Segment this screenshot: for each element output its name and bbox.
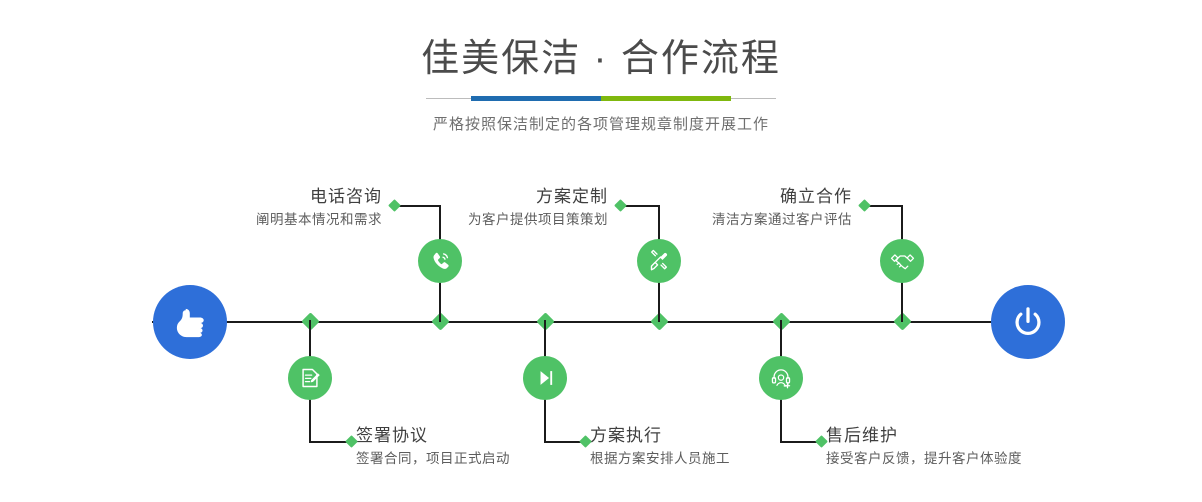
ruler-pencil-icon <box>646 248 672 274</box>
hand-pointing-icon <box>169 301 211 343</box>
step-desc-5: 清洁方案通过客户评估 <box>620 210 852 230</box>
handshake-icon <box>889 248 916 275</box>
divider-segment-green <box>601 96 731 101</box>
step-title-1: 电话咨询 <box>130 186 382 208</box>
process-flow-infographic: 佳美保洁 · 合作流程 严格按照保洁制定的各项管理规章制度开展工作 <box>0 0 1202 502</box>
document-pencil-icon <box>297 365 323 391</box>
step-title-6: 售后维护 <box>826 425 1156 447</box>
timeline-start-node[interactable] <box>153 285 227 359</box>
step-label-5: 确立合作 清洁方案通过客户评估 <box>620 186 852 230</box>
step-label-3: 方案定制 为客户提供项目策策划 <box>376 186 608 230</box>
phone-call-icon <box>427 248 453 274</box>
power-icon <box>1008 302 1048 342</box>
connector-horizontal-4 <box>544 441 584 443</box>
connector-horizontal-6 <box>780 441 820 443</box>
step-desc-3: 为客户提供项目策策划 <box>376 210 608 230</box>
step-label-6: 售后维护 接受客户反馈，提升客户体验度 <box>826 425 1156 469</box>
divider-segment-blue <box>471 96 601 101</box>
step-title-3: 方案定制 <box>376 186 608 208</box>
step-icon-2[interactable] <box>288 356 332 400</box>
timeline-end-node[interactable] <box>991 285 1065 359</box>
step-desc-1: 阐明基本情况和需求 <box>130 210 382 230</box>
step-label-1: 电话咨询 阐明基本情况和需求 <box>130 186 382 230</box>
step-desc-6: 接受客户反馈，提升客户体验度 <box>826 449 1156 469</box>
step-icon-6[interactable] <box>759 356 803 400</box>
page-title: 佳美保洁 · 合作流程 <box>0 0 1202 82</box>
step-icon-1[interactable] <box>418 239 462 283</box>
header: 佳美保洁 · 合作流程 严格按照保洁制定的各项管理规章制度开展工作 <box>0 0 1202 135</box>
timeline-axis <box>152 321 1050 323</box>
step-title-5: 确立合作 <box>620 186 852 208</box>
play-execute-icon <box>532 365 558 391</box>
step-icon-4[interactable] <box>523 356 567 400</box>
step-icon-3[interactable] <box>637 239 681 283</box>
step-icon-5[interactable] <box>880 239 924 283</box>
label-marker-5 <box>858 199 871 212</box>
customer-service-icon <box>768 365 794 391</box>
connector-horizontal-2 <box>309 441 350 443</box>
page-subtitle: 严格按照保洁制定的各项管理规章制度开展工作 <box>0 115 1202 135</box>
title-divider <box>426 94 776 104</box>
